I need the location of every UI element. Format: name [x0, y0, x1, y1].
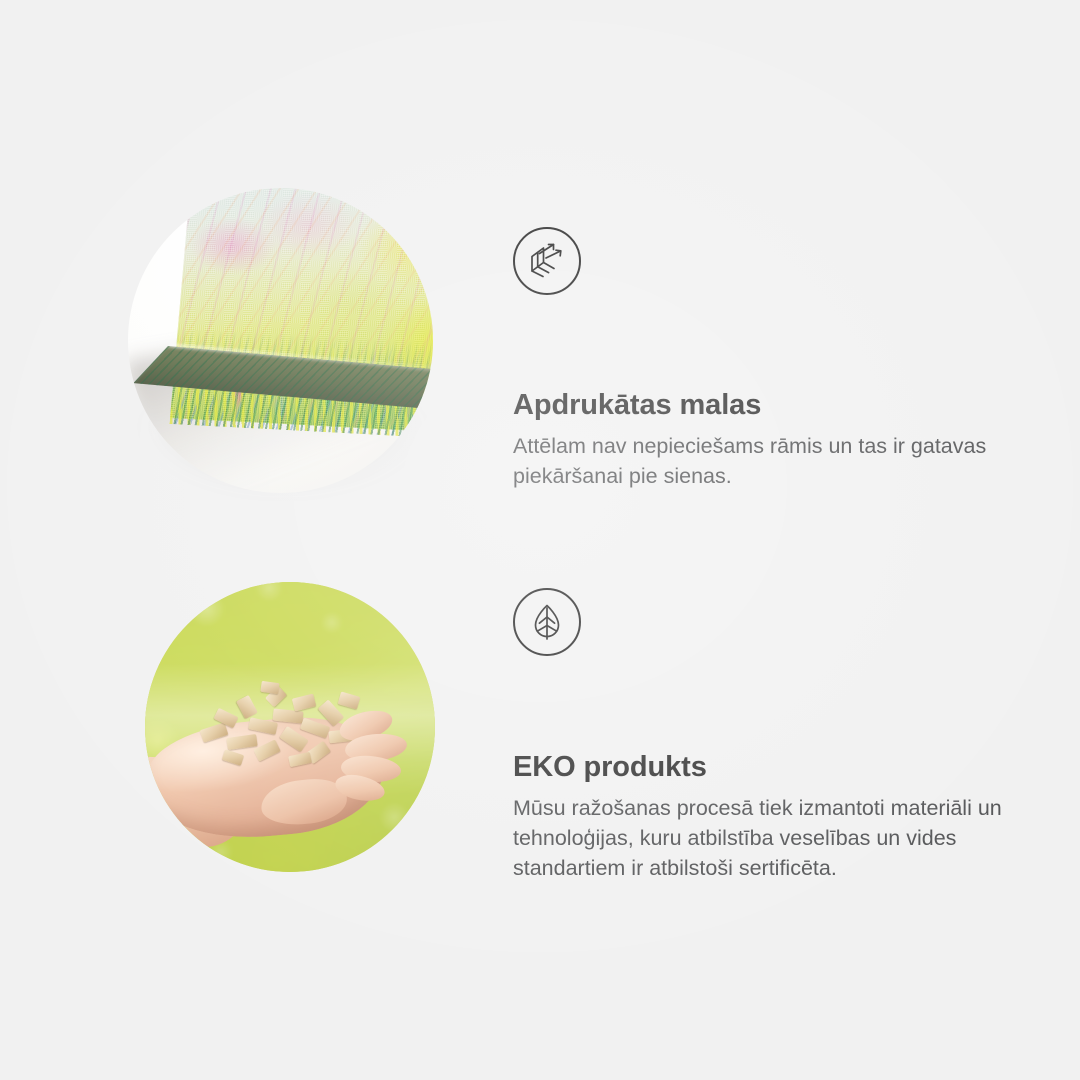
canvas-print-corner-photo — [128, 176, 433, 506]
hands-holding-wood-chips-photo — [145, 582, 435, 872]
canvas-photo-clip — [128, 188, 433, 493]
feature-text-eco-product: EKO produkts Mūsu ražošanas procesā tiek… — [513, 588, 1033, 883]
feature-title: EKO produkts — [513, 751, 1033, 784]
hands-group — [145, 668, 435, 848]
feature-title: Apdrukātas malas — [513, 389, 1033, 422]
canvas-wrapped-edge-icon — [513, 227, 581, 295]
feature-description: Mūsu ražošanas procesā tiek izmantoti ma… — [513, 793, 1013, 883]
leaf-icon — [513, 588, 581, 656]
feature-block-eco-product: EKO produkts Mūsu ražošanas procesā tiek… — [0, 540, 1080, 1080]
feature-text-printed-edges: Apdrukātas malas Attēlam nav nepieciešam… — [513, 227, 1033, 491]
eco-photo-circle — [145, 582, 435, 872]
feature-page: Apdrukātas malas Attēlam nav nepieciešam… — [0, 0, 1080, 1080]
feature-block-printed-edges: Apdrukātas malas Attēlam nav nepieciešam… — [0, 0, 1080, 540]
feature-description: Attēlam nav nepieciešams rāmis un tas ir… — [513, 431, 1013, 491]
fingers — [335, 708, 431, 804]
